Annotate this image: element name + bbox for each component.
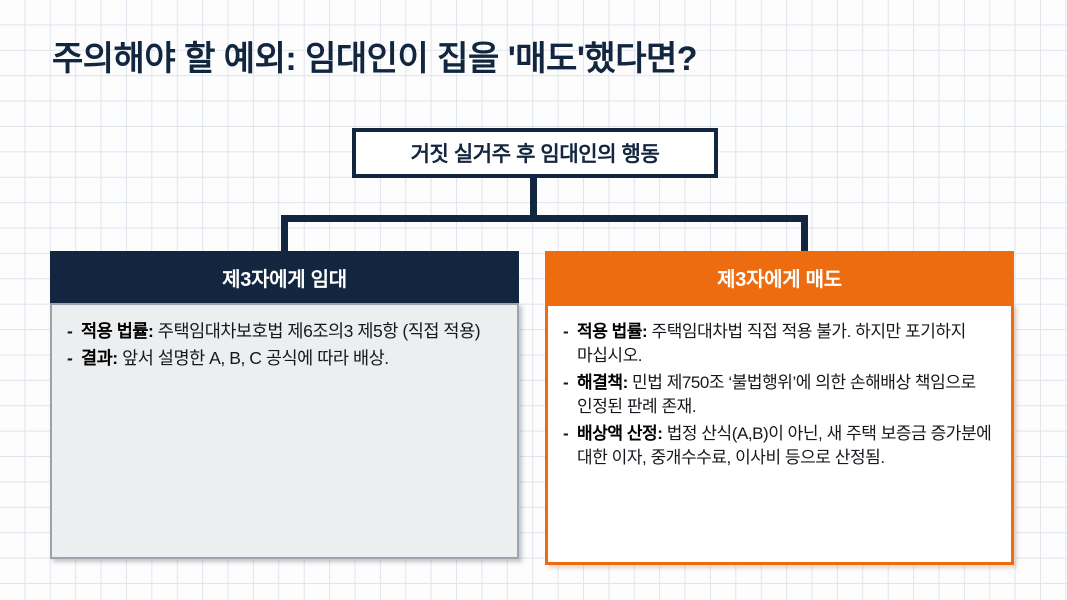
- list-item: 적용 법률: 주택임대차보호법 제6조의3 제5항 (직접 적용): [66, 319, 501, 344]
- bullet-term: 적용 법률:: [577, 322, 647, 341]
- bullet-text: 주택임대차보호법 제6조의3 제5항 (직접 적용): [153, 321, 480, 341]
- bullet-text: 앞서 설명한 A, B, C 공식에 따라 배상.: [118, 348, 389, 368]
- branch-left-bullet-list: 적용 법률: 주택임대차보호법 제6조의3 제5항 (직접 적용) 결과: 앞서…: [66, 319, 501, 371]
- root-node-label: 거짓 실거주 후 임대인의 행동: [411, 138, 660, 168]
- branch-left-header-label: 제3자에게 임대: [222, 263, 347, 292]
- list-item: 배상액 산정: 법정 산식(A,B)이 아닌, 새 주택 보증금 증가분에 대한…: [562, 422, 995, 471]
- branch-left-header: 제3자에게 임대: [50, 251, 519, 303]
- list-item: 결과: 앞서 설명한 A, B, C 공식에 따라 배상.: [66, 346, 501, 371]
- branch-sell-to-third-party: 제3자에게 매도 적용 법률: 주택임대차법 직접 적용 불가. 하지만 포기하…: [545, 251, 1014, 565]
- list-item: 적용 법률: 주택임대차법 직접 적용 불가. 하지만 포기하지 마십시오.: [562, 320, 995, 369]
- bullet-term: 배상액 산정:: [577, 424, 662, 443]
- connector-horizontal: [281, 215, 808, 222]
- branch-right-header-label: 제3자에게 매도: [717, 263, 842, 292]
- bullet-term: 결과:: [81, 348, 118, 368]
- branch-right-header: 제3자에게 매도: [545, 251, 1014, 303]
- slide-canvas: 주의해야 할 예외: 임대인이 집을 '매도'했다면? 거짓 실거주 후 임대인…: [0, 0, 1067, 600]
- branch-right-bullet-list: 적용 법률: 주택임대차법 직접 적용 불가. 하지만 포기하지 마십시오. 해…: [562, 320, 995, 471]
- connector-drop-right: [801, 215, 808, 253]
- page-title: 주의해야 할 예외: 임대인이 집을 '매도'했다면?: [52, 40, 952, 79]
- bullet-term: 적용 법률:: [81, 321, 153, 341]
- connector-drop-left: [281, 215, 288, 253]
- bullet-text: 민법 제750조 ‘불법행위’에 의한 손해배상 책임으로 인정된 판례 존재.: [577, 373, 976, 416]
- connector-stem: [530, 178, 537, 218]
- bullet-term: 해결책:: [577, 373, 628, 392]
- branch-rent-to-third-party: 제3자에게 임대 적용 법률: 주택임대차보호법 제6조의3 제5항 (직접 적…: [50, 251, 519, 559]
- branch-right-body: 적용 법률: 주택임대차법 직접 적용 불가. 하지만 포기하지 마십시오. 해…: [545, 303, 1014, 565]
- list-item: 해결책: 민법 제750조 ‘불법행위’에 의한 손해배상 책임으로 인정된 판…: [562, 371, 995, 420]
- branch-left-body: 적용 법률: 주택임대차보호법 제6조의3 제5항 (직접 적용) 결과: 앞서…: [50, 303, 519, 559]
- root-node-box: 거짓 실거주 후 임대인의 행동: [352, 128, 718, 178]
